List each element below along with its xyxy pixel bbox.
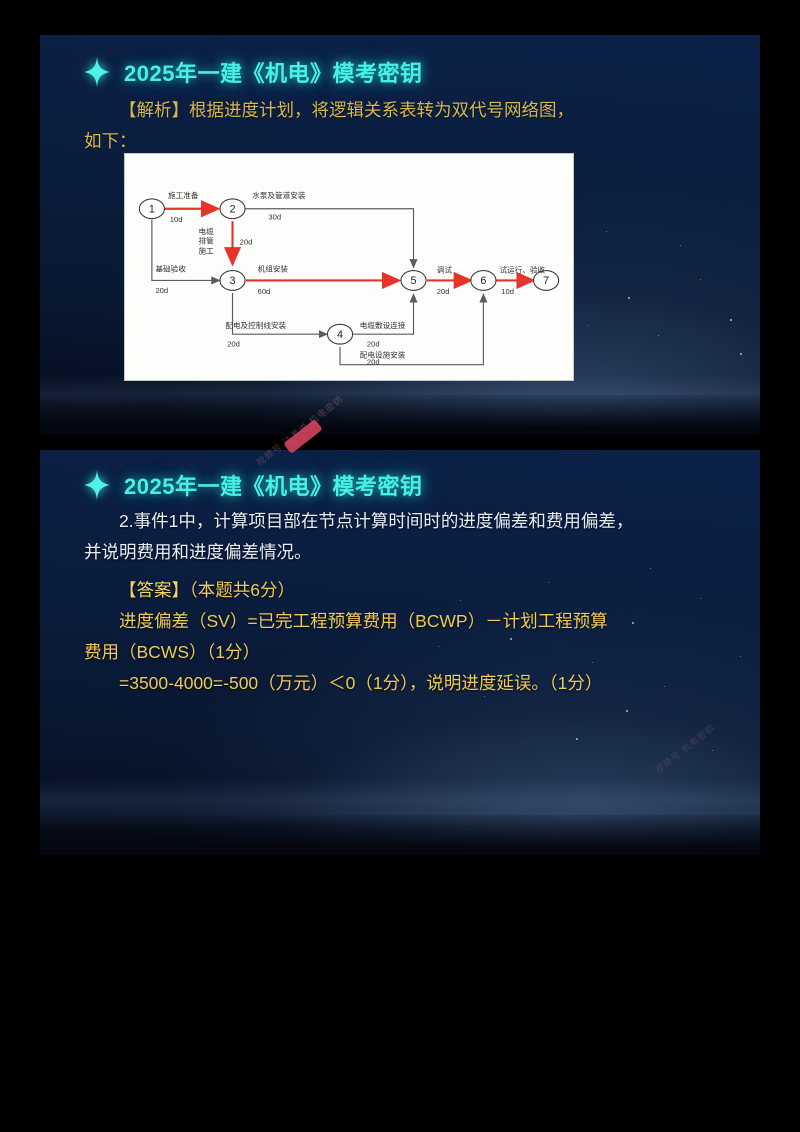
answer-score: （本题共6分） bbox=[189, 580, 295, 600]
edge-duration-3-5: 60d bbox=[258, 287, 271, 296]
sparkle-icon bbox=[84, 57, 110, 87]
node-label-4: 4 bbox=[337, 329, 343, 341]
slide-answer: 2025年一建《机电》模考密钥 2.事件1中，计算项目部在节点计算时间时的进度偏… bbox=[40, 450, 760, 855]
edge-duration-2-3: 20d bbox=[240, 238, 253, 247]
node-label-2: 2 bbox=[230, 203, 236, 215]
question-line-2: 并说明费用和进度偏差情况。 bbox=[84, 537, 720, 568]
answer-text: 2.事件1中，计算项目部在节点计算时间时的进度偏差和费用偏差， 并说明费用和进度… bbox=[84, 506, 720, 699]
horizon-haze-2 bbox=[40, 779, 760, 825]
edge-label-2-3-a: 电缆 bbox=[198, 226, 214, 236]
edge-label-2-3-b: 排管 bbox=[198, 236, 214, 246]
edge-duration-5-6: 20d bbox=[437, 287, 450, 296]
sea-band-2 bbox=[40, 815, 760, 855]
page-title-2: 2025年一建《机电》模考密钥 bbox=[124, 469, 422, 501]
answer-header: 【答案】（本题共6分） bbox=[84, 575, 720, 606]
edge-label-4-5: 电缆敷设连接 bbox=[360, 320, 406, 330]
node-label-6: 6 bbox=[480, 275, 486, 287]
page-title: 2025年一建《机电》模考密钥 bbox=[124, 56, 422, 88]
question-line-1: 2.事件1中，计算项目部在节点计算时间时的进度偏差和费用偏差， bbox=[84, 506, 720, 537]
slide-heading: 2025年一建《机电》模考密钥 bbox=[84, 56, 422, 88]
node-label-1: 1 bbox=[149, 203, 155, 215]
edge-duration-3-4: 20d bbox=[227, 340, 240, 349]
edge-label-5-6: 调试 bbox=[437, 264, 453, 274]
edge-label-2-5: 水泵及管道安装 bbox=[252, 190, 306, 200]
horizon-haze bbox=[40, 375, 760, 421]
edge-label-6-7: 试运行、验收 bbox=[500, 264, 546, 274]
node-label-7: 7 bbox=[543, 275, 549, 287]
slide-analysis: 2025年一建《机电》模考密钥 【解析】根据进度计划，将逻辑关系表转为双代号网络… bbox=[40, 35, 760, 435]
edge-duration-6-7: 10d bbox=[501, 287, 514, 296]
edge-duration-1-2: 10d bbox=[170, 215, 183, 224]
sea-band bbox=[40, 395, 760, 435]
edge-label-1-2: 施工准备 bbox=[168, 190, 199, 200]
answer-line-3: =3500-4000=-500（万元）＜0（1分），说明进度延误。（1分） bbox=[84, 668, 720, 699]
edge-duration-1-3: 20d bbox=[155, 286, 168, 295]
answer-label: 【答案】 bbox=[119, 580, 189, 600]
edge-label-1-3: 基础验收 bbox=[155, 263, 186, 273]
node-label-5: 5 bbox=[411, 275, 417, 287]
sparkle-icon bbox=[84, 470, 110, 500]
slide-heading-2: 2025年一建《机电》模考密钥 bbox=[84, 469, 422, 501]
edge-label-3-4: 配电及控制线安装 bbox=[225, 320, 286, 330]
edge-label-2-3-c: 施工 bbox=[198, 246, 214, 256]
analysis-line-1: 【解析】根据进度计划，将逻辑关系表转为双代号网络图， bbox=[84, 95, 720, 126]
answer-line-2: 费用（BCWS）（1分） bbox=[84, 637, 720, 668]
edge-duration-4-5: 20d bbox=[367, 340, 380, 349]
network-diagram-panel: 1 2 3 4 5 6 7 施工准备 10d 水泵及管道安装 30d 电缆 排管… bbox=[124, 153, 574, 381]
edge-label-3-5: 机组安装 bbox=[258, 263, 289, 273]
edge-duration-2-5: 30d bbox=[268, 213, 281, 222]
network-diagram-svg: 1 2 3 4 5 6 7 施工准备 10d 水泵及管道安装 30d 电缆 排管… bbox=[125, 154, 573, 380]
answer-line-1: 进度偏差（SV）=已完工程预算费用（BCWP）－计划工程预算 bbox=[84, 606, 720, 637]
analysis-text: 【解析】根据进度计划，将逻辑关系表转为双代号网络图， 如下： bbox=[84, 95, 720, 157]
node-label-3: 3 bbox=[230, 275, 236, 287]
edge-duration-4-6: 20d bbox=[367, 358, 380, 367]
